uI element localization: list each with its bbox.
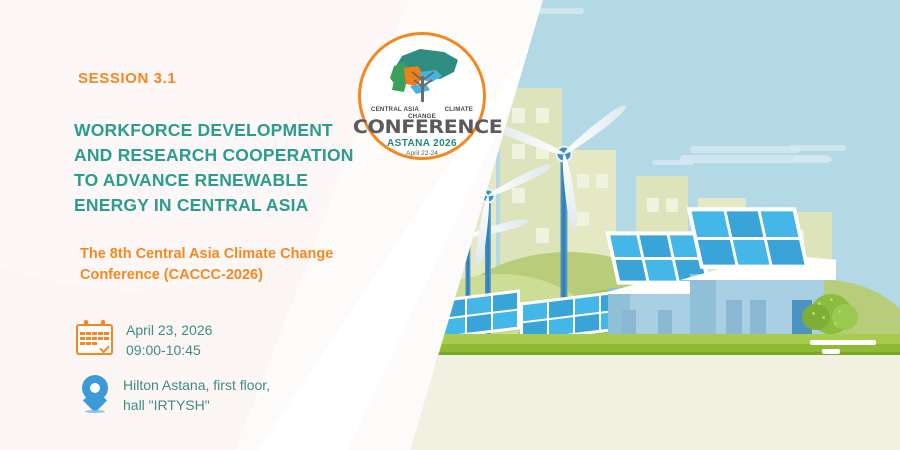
foreground-ground <box>390 355 900 450</box>
cloud-streak <box>788 145 846 151</box>
location-text: Hilton Astana, first floor, hall "IRTYSH… <box>123 375 270 416</box>
road-marking <box>810 340 876 345</box>
poster-text-content: SESSION 3.1 WORKFORCE DEVELOPMENT AND RE… <box>0 0 430 450</box>
session-poster: CENTRAL ASIA CLIMATE CHANGE CONFERENCE A… <box>0 0 900 450</box>
calendar-icon <box>76 320 113 355</box>
roof-solar-panel <box>687 207 810 269</box>
date-time-row: April 23, 2026 09:00-10:45 <box>76 320 212 361</box>
map-pin-icon <box>80 375 110 415</box>
cloud-streak <box>652 160 694 165</box>
date-time-text: April 23, 2026 09:00-10:45 <box>126 320 212 361</box>
cloud-streak <box>690 146 800 153</box>
conference-subtitle: The 8th Central Asia Climate Change Conf… <box>80 244 400 285</box>
location-row: Hilton Astana, first floor, hall "IRTYSH… <box>80 375 270 416</box>
road-marking <box>822 349 840 354</box>
session-label: SESSION 3.1 <box>78 70 176 87</box>
cloud-streak <box>792 157 832 162</box>
session-title: WORKFORCE DEVELOPMENT AND RESEARCH COOPE… <box>74 118 404 217</box>
